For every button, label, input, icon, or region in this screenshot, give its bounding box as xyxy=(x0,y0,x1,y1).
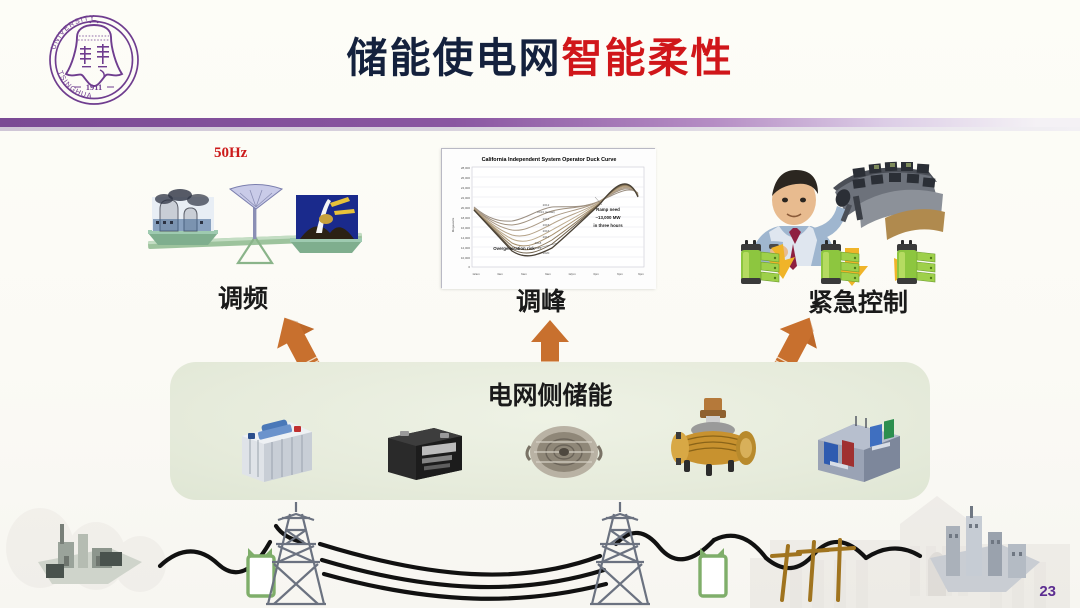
power-electronics-converter-icon xyxy=(810,410,908,486)
svg-text:12am: 12am xyxy=(472,272,480,276)
frequency-badge: 50Hz xyxy=(214,145,247,162)
title-part-red: 智能柔性 xyxy=(562,34,734,82)
svg-text:~13,000 MW: ~13,000 MW xyxy=(595,215,621,220)
svg-text:6am: 6am xyxy=(521,272,527,276)
duck-curve-chart: California Independent System Operator D… xyxy=(441,148,655,288)
svg-text:2017: 2017 xyxy=(543,235,550,239)
emergency-control-panel xyxy=(735,148,960,288)
svg-text:10,000: 10,000 xyxy=(461,256,471,260)
grid-storage-panel: 电网侧储能 xyxy=(170,362,930,500)
coal-mining-icon xyxy=(290,195,362,253)
svg-text:9pm: 9pm xyxy=(638,272,644,276)
svg-text:22,000: 22,000 xyxy=(461,196,471,200)
svg-text:2014: 2014 xyxy=(543,217,550,221)
frequency-label: 调频 xyxy=(218,279,268,315)
lithium-battery-module-icon xyxy=(228,414,318,486)
svg-text:28,000: 28,000 xyxy=(461,166,471,170)
svg-text:2013 (actual): 2013 (actual) xyxy=(537,210,555,214)
svg-text:2018: 2018 xyxy=(535,241,542,245)
page-title: 储能使电网智能柔性 xyxy=(0,24,1080,84)
page-number: 23 xyxy=(1039,583,1056,600)
chart-annotation-ramp: Ramp need ~13,000 MW in three hours xyxy=(593,207,623,228)
chart-annotation-overgeneration: Overgeneration risk xyxy=(493,246,535,251)
svg-text:12pm: 12pm xyxy=(568,272,576,276)
superconducting-magnetic-storage-icon xyxy=(658,394,768,488)
svg-text:9am: 9am xyxy=(545,272,551,276)
city-load-icon xyxy=(930,506,1040,592)
svg-text:in three hours: in three hours xyxy=(593,223,623,228)
svg-text:2012: 2012 xyxy=(543,203,550,207)
svg-text:12,000: 12,000 xyxy=(461,246,471,250)
distribution-poles-icon xyxy=(772,540,854,600)
svg-text:3am: 3am xyxy=(497,272,503,276)
header-divider-shadow xyxy=(0,127,1080,131)
grid-storage-title: 电网侧储能 xyxy=(170,376,930,412)
flywheel-storage-icon xyxy=(518,416,610,486)
svg-text:18,000: 18,000 xyxy=(461,216,471,220)
battery-storage-icon-3 xyxy=(897,240,935,284)
power-plant-icon xyxy=(148,189,218,245)
svg-text:2015: 2015 xyxy=(543,223,550,227)
svg-text:2020: 2020 xyxy=(543,251,550,255)
power-grid-diagram xyxy=(0,500,1080,608)
svg-text:6pm: 6pm xyxy=(617,272,623,276)
peak-label: 调峰 xyxy=(516,282,566,318)
step-up-transformer-icon xyxy=(248,548,274,596)
svg-text:14,000: 14,000 xyxy=(461,236,471,240)
svg-text:Ramp need: Ramp need xyxy=(596,207,620,212)
svg-text:26,000: 26,000 xyxy=(461,176,471,180)
svg-text:2016: 2016 xyxy=(543,229,550,233)
svg-text:20,000: 20,000 xyxy=(461,206,471,210)
step-down-transformer-icon xyxy=(700,548,726,596)
header-divider xyxy=(0,118,1080,127)
title-part-dark: 储能使电网 xyxy=(347,34,562,82)
lead-acid-battery-icon xyxy=(378,420,470,486)
slide-canvas: 1911 UNIVERSITY TSINGHUA 储能使电网智能柔性 50Hz xyxy=(0,0,1080,608)
chart-title: California Independent System Operator D… xyxy=(482,157,617,163)
svg-text:24,000: 24,000 xyxy=(461,186,471,190)
control-console-icon xyxy=(833,162,945,240)
generation-plant-icon xyxy=(38,524,142,584)
svg-text:16,000: 16,000 xyxy=(461,226,471,230)
transmission-tower-icon-2 xyxy=(590,502,650,604)
svg-text:3pm: 3pm xyxy=(593,272,599,276)
chart-ylabel: Megawatts xyxy=(451,217,455,232)
balance-scale-icon xyxy=(140,175,370,270)
